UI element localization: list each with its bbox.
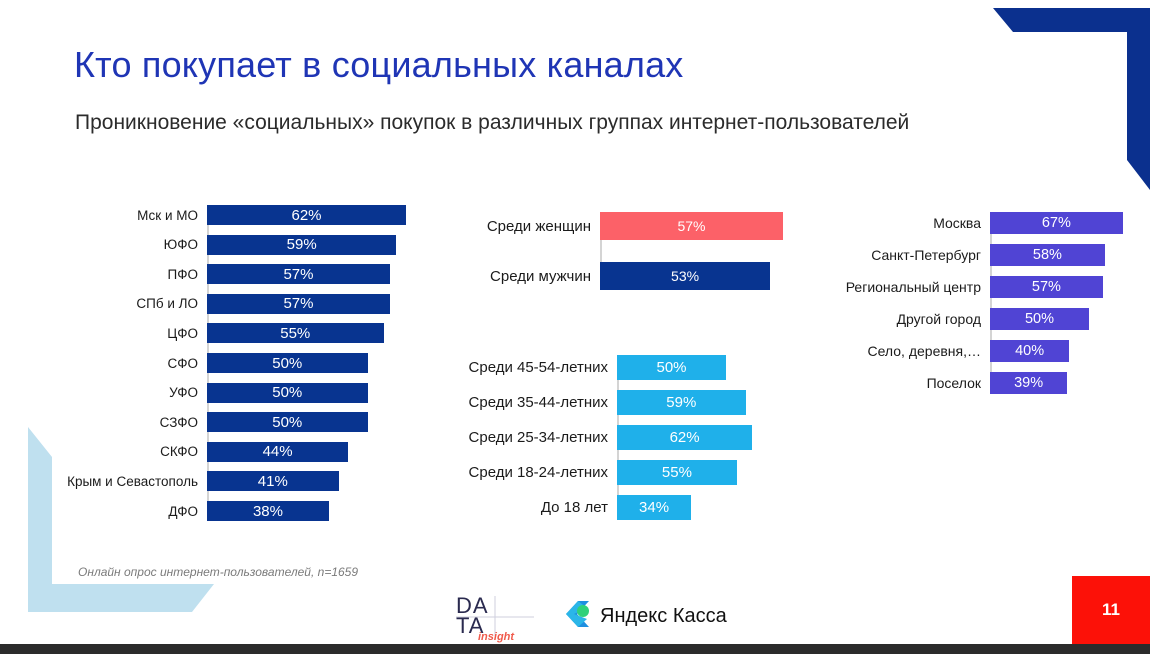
logo-strip: DA TA insight Яндекс Касса [448, 596, 727, 646]
yandex-kassa-text: Яндекс Касса [600, 605, 727, 628]
chart-city-category-label: Санкт-Петербург [871, 247, 990, 263]
chart-age-bar: 55% [617, 460, 737, 485]
chart-age-bar: 50% [617, 355, 726, 380]
chart-regions-value-label: 55% [280, 326, 310, 341]
chart-age-category-label: Среди 25-34-летних [469, 429, 617, 446]
chart-city-category-label: Москва [933, 215, 990, 231]
chart-regions-row: ЦФО55% [207, 323, 467, 343]
chart-regions-bar: 57% [207, 294, 390, 314]
chart-city-bar: 39% [990, 372, 1067, 394]
chart-city: Москва67%Санкт-Петербург58%Региональный … [990, 212, 1130, 394]
chart-city-value-label: 58% [1033, 248, 1062, 263]
source-footnote: Онлайн опрос интернет-пользователей, n=1… [78, 565, 358, 579]
chart-city-row: Санкт-Петербург58% [990, 244, 1130, 266]
chart-regions-row: СФО50% [207, 353, 467, 373]
chart-city-axis [990, 212, 992, 394]
chart-age-value-label: 59% [666, 395, 696, 410]
yandex-kassa-logo: Яндекс Касса [558, 596, 727, 636]
chart-city-category-label: Село, деревня,… [868, 343, 991, 359]
page-number-badge: 11 [1072, 576, 1150, 644]
chart-regions-row: ЮФО59% [207, 235, 467, 255]
chart-regions-category-label: ПФО [168, 267, 207, 282]
chart-regions-bar: 57% [207, 264, 390, 284]
chart-regions-bar: 50% [207, 383, 368, 403]
chart-age-category-label: Среди 35-44-летних [469, 394, 617, 411]
chart-age-category-label: Среди 18-24-летних [469, 464, 617, 481]
chart-city-category-label: Региональный центр [846, 279, 990, 295]
chart-gender-category-label: Среди мужчин [490, 268, 600, 285]
chart-regions-bar: 44% [207, 442, 348, 462]
chart-regions-row: СЗФО50% [207, 412, 467, 432]
chart-city-value-label: 40% [1015, 344, 1044, 359]
data-insight-letters: DA TA [456, 596, 534, 636]
chart-age-row: Среди 18-24-летних55% [617, 460, 797, 485]
chart-city-bar: 50% [990, 308, 1089, 330]
chart-regions-value-label: 59% [287, 237, 317, 252]
chart-city-row: Москва67% [990, 212, 1130, 234]
chart-age-row: Среди 45-54-летних50% [617, 355, 797, 380]
chart-gender-value-label: 53% [671, 269, 699, 283]
chart-regions-category-label: Крым и Севастополь [67, 474, 207, 489]
chart-regions-bar: 41% [207, 471, 339, 491]
chart-gender-bar: 57% [600, 212, 783, 240]
chart-city-bar: 40% [990, 340, 1069, 362]
chart-city-bar: 58% [990, 244, 1105, 266]
chart-regions-value-label: 44% [263, 444, 293, 459]
chart-city-bar: 57% [990, 276, 1103, 298]
chart-regions-category-label: Мск и МО [137, 208, 207, 223]
chart-city-row: Село, деревня,…40% [990, 340, 1130, 362]
chart-regions-bar: 55% [207, 323, 384, 343]
chart-city-value-label: 57% [1032, 280, 1061, 295]
chart-regions-value-label: 50% [272, 385, 302, 400]
chart-age: Среди 45-54-летних50%Среди 35-44-летних5… [617, 355, 797, 520]
chart-age-value-label: 62% [670, 430, 700, 445]
data-insight-logo: DA TA insight [448, 596, 540, 646]
chart-gender-row: Среди женщин57% [600, 212, 800, 240]
chart-regions-category-label: СКФО [160, 444, 207, 459]
chart-gender-category-label: Среди женщин [487, 218, 600, 235]
yandex-kassa-icon [558, 599, 592, 633]
chart-city-bar: 67% [990, 212, 1123, 234]
chart-city-value-label: 39% [1014, 376, 1043, 391]
chart-regions-category-label: СФО [167, 356, 207, 371]
chart-gender-row: Среди мужчин53% [600, 262, 800, 290]
chart-city-category-label: Поселок [927, 375, 990, 391]
chart-regions-category-label: ЮФО [164, 237, 207, 252]
chart-city-value-label: 67% [1042, 216, 1071, 231]
chart-regions-bar: 50% [207, 412, 368, 432]
chart-age-value-label: 50% [656, 360, 686, 375]
chart-regions-row: ПФО57% [207, 264, 467, 284]
chart-regions-value-label: 38% [253, 504, 283, 519]
chart-regions-row: СПб и ЛО57% [207, 294, 467, 314]
chart-regions-category-label: СПб и ЛО [136, 296, 207, 311]
chart-regions-value-label: 41% [258, 474, 288, 489]
page-title: Кто покупает в социальных каналах [74, 44, 684, 86]
chart-regions-bar: 50% [207, 353, 368, 373]
chart-city-category-label: Другой город [897, 311, 990, 327]
chart-regions-value-label: 57% [283, 296, 313, 311]
chart-regions-value-label: 62% [291, 208, 321, 223]
chart-regions-value-label: 50% [272, 356, 302, 371]
chart-regions-bar: 59% [207, 235, 396, 255]
corner-bracket-top-right [965, 0, 1150, 190]
chart-regions-row: Крым и Севастополь41% [207, 471, 467, 491]
chart-regions-row: Мск и МО62% [207, 205, 467, 225]
chart-age-bar: 62% [617, 425, 752, 450]
chart-regions-bar: 38% [207, 501, 329, 521]
chart-gender-value-label: 57% [677, 219, 705, 233]
chart-age-row: Среди 35-44-летних59% [617, 390, 797, 415]
chart-gender: Среди женщин57%Среди мужчин53% [600, 212, 800, 290]
di-tagline: insight [478, 631, 514, 643]
chart-age-bar: 34% [617, 495, 691, 520]
chart-regions-value-label: 57% [283, 267, 313, 282]
chart-city-value-label: 50% [1025, 312, 1054, 327]
chart-regions-category-label: ЦФО [167, 326, 207, 341]
chart-age-category-label: До 18 лет [541, 499, 617, 516]
chart-regions-row: СКФО44% [207, 442, 467, 462]
chart-regions-row: ДФО38% [207, 501, 467, 521]
chart-age-category-label: Среди 45-54-летних [469, 359, 617, 376]
chart-city-row: Другой город50% [990, 308, 1130, 330]
chart-age-value-label: 34% [639, 500, 669, 515]
chart-age-row: Среди 25-34-летних62% [617, 425, 797, 450]
slide: Кто покупает в социальных каналах Проник… [0, 0, 1150, 654]
chart-age-value-label: 55% [662, 465, 692, 480]
chart-regions-category-label: СЗФО [160, 415, 207, 430]
chart-city-row: Поселок39% [990, 372, 1130, 394]
chart-regions-category-label: УФО [169, 385, 207, 400]
chart-gender-bar: 53% [600, 262, 770, 290]
page-subtitle: Проникновение «социальных» покупок в раз… [75, 108, 920, 138]
chart-regions-value-label: 50% [272, 415, 302, 430]
chart-regions-bar: 62% [207, 205, 406, 225]
chart-regions: Мск и МО62%ЮФО59%ПФО57%СПб и ЛО57%ЦФО55%… [207, 205, 467, 521]
bottom-bar [0, 644, 1150, 654]
chart-regions-row: УФО50% [207, 383, 467, 403]
chart-regions-category-label: ДФО [168, 504, 207, 519]
chart-age-row: До 18 лет34% [617, 495, 797, 520]
chart-city-row: Региональный центр57% [990, 276, 1130, 298]
chart-age-bar: 59% [617, 390, 746, 415]
